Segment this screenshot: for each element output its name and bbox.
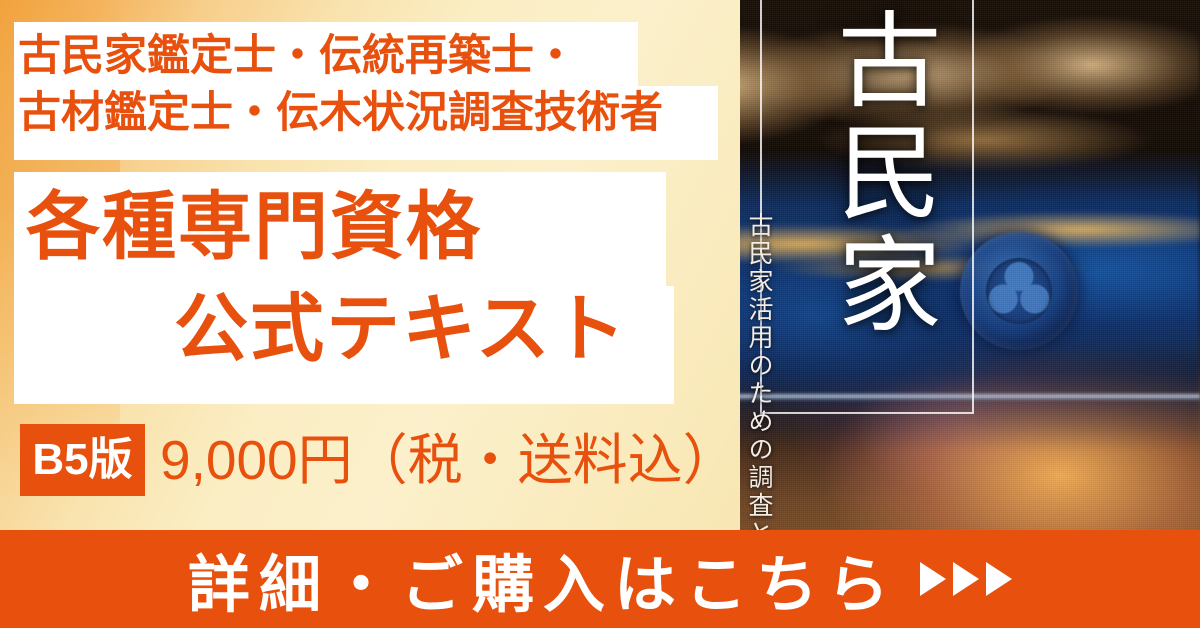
cta-bar[interactable]: 詳細・ご購入はこちら <box>0 530 1200 628</box>
cta-inner: 詳細・ご購入はこちら <box>0 530 1200 628</box>
promo-banner: 古民家 伝統構法 古民家活用のための調査と再生の 古民家鑑定士・伝統再築士・ 古… <box>0 0 1200 628</box>
book-cover-image: 古民家 伝統構法 古民家活用のための調査と再生の <box>660 0 1200 580</box>
arrow-right-icon <box>953 562 979 596</box>
arrow-right-icon <box>920 562 946 596</box>
arrow-right-icon <box>986 562 1012 596</box>
cta-label: 詳細・ご購入はこちら <box>188 534 898 624</box>
price-label: 9,000円（税・送料込） <box>160 424 738 496</box>
main-title-line-2: 公式テキスト <box>20 278 680 380</box>
headline-line-2: 古材鑑定士・伝木状況調査技術者 <box>18 85 718 142</box>
format-badge: B5版 <box>20 424 145 496</box>
main-title-line-1: 各種専門資格 <box>20 176 680 278</box>
headline-line-1: 古民家鑑定士・伝統再築士・ <box>18 28 718 85</box>
cta-arrows <box>920 562 1012 596</box>
qualification-headline: 古民家鑑定士・伝統再築士・ 古材鑑定士・伝木状況調査技術者 <box>18 28 718 142</box>
book-title-vertical: 古民家 <box>788 6 938 342</box>
main-title: 各種専門資格 公式テキスト <box>20 176 680 380</box>
